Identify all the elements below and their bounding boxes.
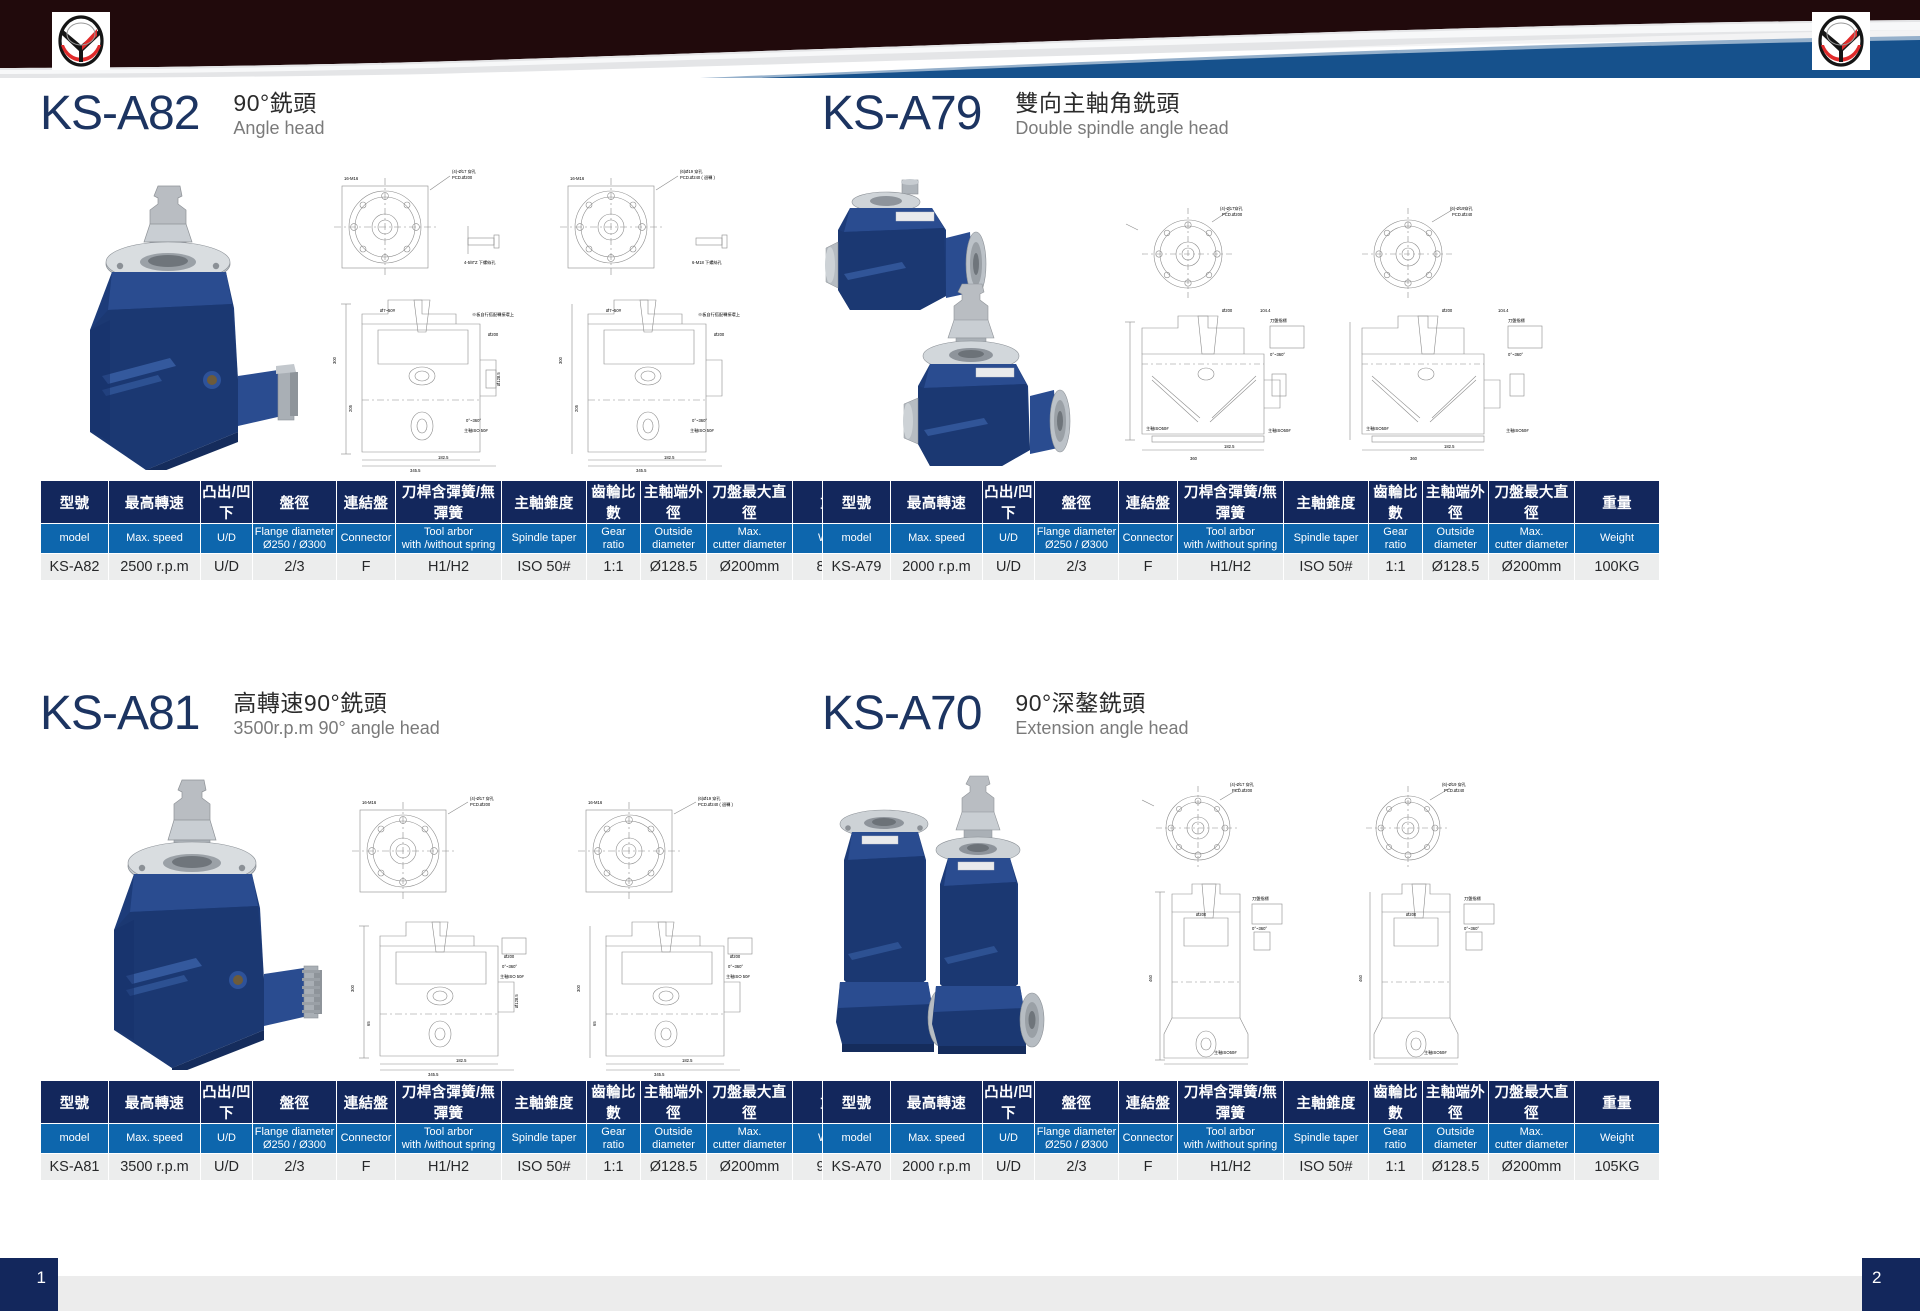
dwg-label: Ø200	[1196, 912, 1207, 917]
th-en-cutter-dia: Max.cutter diameter	[707, 1124, 793, 1154]
cell-connector: F	[1119, 554, 1178, 581]
dwg-label: 6-M18 下螺絲孔	[692, 259, 723, 266]
th-en-model: model	[823, 1124, 891, 1154]
dwg-label: PCD.Ø200	[470, 802, 491, 807]
dwg-label: Ø128.5	[496, 372, 501, 386]
dwg-label: Ø7~50#	[606, 308, 622, 313]
cell-ud: U/D	[983, 554, 1035, 581]
th-cn-max-speed: 最高轉速	[109, 1081, 201, 1124]
technical-drawings: (4)-Ø17 穿孔 PCD.Ø200 (6)-Ø19 穿孔 PCD.Ø240 …	[1098, 782, 1558, 1072]
th-cn-ud: 凸出/凹下	[201, 1081, 253, 1124]
dwg-label: 182.5	[682, 1058, 693, 1063]
technical-drawings: 16-M16 (4)-Ø17 穿孔 PCD.Ø200 16-M16 (6)Ø19…	[336, 796, 786, 1076]
product-name-cn: 雙向主軸角銑頭	[1015, 90, 1228, 117]
product-title-row: KS-A82 90°銑頭 Angle head	[40, 88, 780, 150]
th-cn-gear-ratio: 齒輪比數	[587, 481, 641, 524]
th-en-max-speed: Max. speed	[891, 524, 983, 554]
dwg-label: 345.5	[428, 1072, 439, 1076]
dwg-label: Ø200	[504, 954, 515, 959]
th-en-gear-ratio: Gearratio	[1369, 524, 1423, 554]
cell-taper: ISO 50#	[1284, 1154, 1369, 1181]
th-cn-connector: 連結盤	[1119, 1081, 1178, 1124]
dwg-label: 16-M16	[344, 176, 359, 181]
header-banner	[0, 0, 1920, 78]
th-cn-cutter-dia: 刀盤最大直徑	[707, 481, 793, 524]
dwg-label: 0°~360°	[502, 964, 517, 969]
product-figure-ks-a70: (4)-Ø17 穿孔 PCD.Ø200 (6)-Ø19 穿孔 PCD.Ø240 …	[822, 756, 1562, 1074]
th-en-gear-ratio: Gearratio	[587, 1124, 641, 1154]
cell-taper: ISO 50#	[502, 554, 587, 581]
dwg-label: ※板自行搭配轉接環上	[472, 311, 514, 318]
product-model-code: KS-A82	[40, 88, 199, 140]
th-cn-ud: 凸出/凹下	[983, 481, 1035, 524]
product-name-en: 3500r.p.m 90° angle head	[233, 717, 439, 739]
cell-cutter-dia: Ø200mm	[707, 1154, 793, 1181]
product-name-cn: 高轉速90°銑頭	[233, 690, 439, 717]
product-photo-right	[924, 772, 1054, 1062]
dwg-label: 345.5	[654, 1072, 665, 1076]
cell-ud: U/D	[201, 1154, 253, 1181]
th-cn-model: 型號	[41, 1081, 109, 1124]
dwg-label: Ø200	[488, 332, 499, 337]
th-en-max-speed: Max. speed	[891, 1124, 983, 1154]
th-en-tool-arbor: Tool arborwith /without spring	[396, 524, 502, 554]
dwg-label: PCD.Ø200	[452, 175, 473, 180]
dwg-label: 460	[1148, 974, 1153, 982]
dwg-label: (6)Ø19 穿孔	[680, 168, 703, 175]
dwg-label: 0°~360°	[1464, 926, 1479, 931]
dwg-label: 刀盤指標	[1464, 895, 1482, 902]
th-en-cutter-dia: Max.cutter diameter	[707, 524, 793, 554]
dwg-label: 360	[1410, 456, 1418, 461]
th-cn-gear-ratio: 齒輪比數	[1369, 481, 1423, 524]
th-en-ud: U/D	[983, 1124, 1035, 1154]
cell-gear-ratio: 1:1	[587, 1154, 641, 1181]
th-cn-connector: 連結盤	[1119, 481, 1178, 524]
th-cn-model: 型號	[41, 481, 109, 524]
th-cn-taper: 主軸錐度	[1284, 1081, 1369, 1124]
th-en-weight: Weight	[1575, 1124, 1660, 1154]
th-cn-max-speed: 最高轉速	[109, 481, 201, 524]
cell-outside-dia: Ø128.5	[1423, 554, 1489, 581]
dwg-label: Ø200	[1406, 912, 1417, 917]
dwg-label: PCD.Ø240 ( 迴轉 )	[680, 174, 716, 181]
dwg-label: Ø200	[730, 954, 741, 959]
dwg-label: 205	[574, 404, 579, 412]
dwg-label: (6)-Ø19穿孔	[1450, 205, 1474, 212]
dwg-label: 182.5	[456, 1058, 467, 1063]
th-en-flange: Flange diameterØ250 / Ø300	[253, 524, 337, 554]
table-header-row-cn: 型號 最高轉速 凸出/凹下 盤徑 連結盤 刀桿含彈簧/無彈簧 主軸錐度 齒輪比數…	[823, 481, 1660, 524]
dwg-label: 主軸ISO 50#	[500, 973, 524, 980]
company-y-emblem-icon	[1817, 15, 1865, 67]
dwg-label: Ø200	[1442, 308, 1453, 313]
th-en-ud: U/D	[201, 524, 253, 554]
cell-flange: 2/3	[253, 1154, 337, 1181]
dwg-label: Ø200	[714, 332, 725, 337]
dwg-label: 刀盤指標	[1270, 317, 1288, 324]
cell-gear-ratio: 1:1	[1369, 1154, 1423, 1181]
table-row: KS-A82 2500 r.p.m U/D 2/3 F H1/H2 ISO 50…	[41, 554, 878, 581]
company-y-emblem-icon	[57, 15, 105, 67]
cell-tool-arbor: H1/H2	[1178, 554, 1284, 581]
dwg-label: PCD.Ø200	[1232, 788, 1253, 793]
th-en-connector: Connector	[1119, 524, 1178, 554]
dwg-label: 300	[332, 356, 337, 364]
dwg-label: 16-M16	[588, 800, 603, 805]
cell-model: KS-A81	[41, 1154, 109, 1181]
dwg-label: 主軸ISO50#	[1268, 427, 1291, 434]
cell-ud: U/D	[983, 1154, 1035, 1181]
th-en-tool-arbor: Tool arborwith /without spring	[1178, 524, 1284, 554]
th-cn-cutter-dia: 刀盤最大直徑	[707, 1081, 793, 1124]
footer-bar	[0, 1276, 1920, 1311]
dwg-label: 0°~360°	[1252, 926, 1267, 931]
page-number-right: 2	[1862, 1258, 1920, 1311]
product-block-ks-a81: KS-A81 高轉速90°銑頭 3500r.p.m 90° angle head	[40, 688, 780, 1181]
table-row: KS-A79 2000 r.p.m U/D 2/3 F H1/H2 ISO 50…	[823, 554, 1660, 581]
dwg-label: 主軸ISO50#	[1366, 425, 1389, 432]
dwg-label: (4)-Ø17 穿孔	[452, 168, 477, 175]
th-en-taper: Spindle taper	[1284, 524, 1369, 554]
cell-max-speed: 2500 r.p.m	[109, 554, 201, 581]
cell-model: KS-A82	[41, 554, 109, 581]
table-header-row-cn: 型號 最高轉速 凸出/凹下 盤徑 連結盤 刀桿含彈簧/無彈簧 主軸錐度 齒輪比數…	[823, 1081, 1660, 1124]
th-en-gear-ratio: Gearratio	[587, 524, 641, 554]
dwg-label: 主軸ISO 50#	[464, 427, 488, 434]
cell-outside-dia: Ø128.5	[641, 554, 707, 581]
dwg-label: 182.5	[1224, 444, 1235, 449]
dwg-label: 300	[576, 984, 581, 992]
cell-taper: ISO 50#	[1284, 554, 1369, 581]
th-cn-taper: 主軸錐度	[1284, 481, 1369, 524]
th-en-taper: Spindle taper	[502, 524, 587, 554]
dwg-label: 主軸ISO 50#	[690, 427, 714, 434]
product-name-cn: 90°深鏊銑頭	[1015, 690, 1188, 717]
th-cn-ud: 凸出/凹下	[201, 481, 253, 524]
th-en-cutter-dia: Max.cutter diameter	[1489, 1124, 1575, 1154]
th-en-connector: Connector	[337, 524, 396, 554]
product-model-code: KS-A70	[822, 688, 981, 740]
dwg-label: (4)-Ø17穿孔	[1220, 205, 1244, 212]
th-en-max-speed: Max. speed	[109, 1124, 201, 1154]
table-row: KS-A70 2000 r.p.m U/D 2/3 F H1/H2 ISO 50…	[823, 1154, 1660, 1181]
th-en-taper: Spindle taper	[1284, 1124, 1369, 1154]
dwg-label: Ø7~50#	[380, 308, 396, 313]
th-cn-outside-dia: 主軸端外徑	[641, 481, 707, 524]
technical-drawings: (4)-Ø17穿孔 PCD.Ø200 (6)-Ø19穿孔 PCD.Ø240 36…	[1112, 204, 1562, 474]
dwg-label: 345.5	[410, 468, 421, 473]
dwg-label: 360	[1190, 456, 1198, 461]
dwg-label: 65	[592, 1021, 597, 1026]
th-cn-flange: 盤徑	[1035, 1081, 1119, 1124]
th-cn-flange: 盤徑	[253, 1081, 337, 1124]
dwg-label: 0°~360°	[1270, 352, 1285, 357]
product-photo	[50, 180, 300, 470]
dwg-label: 300	[558, 356, 563, 364]
product-title-row: KS-A81 高轉速90°銑頭 3500r.p.m 90° angle head	[40, 688, 780, 750]
th-cn-max-speed: 最高轉速	[891, 1081, 983, 1124]
cell-model: KS-A70	[823, 1154, 891, 1181]
cell-weight: 105KG	[1575, 1154, 1660, 1181]
cell-outside-dia: Ø128.5	[1423, 1154, 1489, 1181]
table-header-row-en: model Max. speed U/D Flange diameterØ250…	[823, 1124, 1660, 1154]
dwg-label: 0°~360°	[692, 418, 707, 423]
dwg-label: 4-5/8"Z 下螺絲孔	[464, 259, 496, 266]
dwg-label: 104.4	[1260, 308, 1271, 313]
product-title-row: KS-A79 雙向主軸角銑頭 Double spindle angle head	[822, 88, 1562, 150]
dwg-label: 主軸ISO50#	[1506, 427, 1529, 434]
dwg-label: 182.5	[664, 455, 675, 460]
product-block-ks-a70: KS-A70 90°深鏊銑頭 Extension angle head	[822, 688, 1562, 1181]
th-en-max-speed: Max. speed	[109, 524, 201, 554]
table-header-row-en: model Max. speed U/D Flange diameterØ250…	[823, 524, 1660, 554]
th-cn-connector: 連結盤	[337, 481, 396, 524]
dwg-label: 16-M16	[570, 176, 585, 181]
th-en-ud: U/D	[201, 1124, 253, 1154]
product-title-row: KS-A70 90°深鏊銑頭 Extension angle head	[822, 688, 1562, 750]
cell-max-speed: 2000 r.p.m	[891, 554, 983, 581]
dwg-label: 刀盤指標	[1252, 895, 1270, 902]
product-figure-ks-a79: (4)-Ø17穿孔 PCD.Ø200 (6)-Ø19穿孔 PCD.Ø240 36…	[822, 156, 1562, 474]
cell-model: KS-A79	[823, 554, 891, 581]
dwg-label: 345.5	[636, 468, 647, 473]
cell-cutter-dia: Ø200mm	[1489, 554, 1575, 581]
product-model-code: KS-A81	[40, 688, 199, 740]
th-cn-tool-arbor: 刀桿含彈簧/無彈簧	[1178, 1081, 1284, 1124]
th-en-flange: Flange diameterØ250 / Ø300	[253, 1124, 337, 1154]
cell-connector: F	[1119, 1154, 1178, 1181]
th-cn-connector: 連結盤	[337, 1081, 396, 1124]
th-en-outside-dia: Outsidediameter	[1423, 524, 1489, 554]
th-en-gear-ratio: Gearratio	[1369, 1124, 1423, 1154]
dwg-label: 205	[348, 404, 353, 412]
th-en-flange: Flange diameterØ250 / Ø300	[1035, 524, 1119, 554]
table-header-row-en: model Max. speed U/D Flange diameterØ250…	[41, 1124, 878, 1154]
th-en-outside-dia: Outsidediameter	[641, 1124, 707, 1154]
th-cn-outside-dia: 主軸端外徑	[1423, 481, 1489, 524]
cell-tool-arbor: H1/H2	[396, 1154, 502, 1181]
cell-max-speed: 3500 r.p.m	[109, 1154, 201, 1181]
cell-flange: 2/3	[1035, 1154, 1119, 1181]
cell-tool-arbor: H1/H2	[396, 554, 502, 581]
th-en-model: model	[823, 524, 891, 554]
page-number-left: 1	[0, 1258, 58, 1311]
cell-weight: 100KG	[1575, 554, 1660, 581]
th-cn-tool-arbor: 刀桿含彈簧/無彈簧	[396, 1081, 502, 1124]
th-en-model: model	[41, 524, 109, 554]
th-cn-ud: 凸出/凹下	[983, 1081, 1035, 1124]
dwg-label: Ø128.5	[514, 994, 519, 1008]
th-cn-taper: 主軸錐度	[502, 1081, 587, 1124]
product-photo-lower	[900, 280, 1100, 476]
cell-gear-ratio: 1:1	[587, 554, 641, 581]
product-figure-ks-a82: 16-M16 (4)-Ø17 穿孔 PCD.Ø200 16-M16 (6)Ø19…	[40, 156, 780, 474]
th-en-tool-arbor: Tool arborwith /without spring	[1178, 1124, 1284, 1154]
dwg-label: 182.5	[1444, 444, 1455, 449]
cell-flange: 2/3	[253, 554, 337, 581]
dwg-label: 主軸ISO50#	[1214, 1049, 1237, 1056]
spec-table-ks-a70: 型號 最高轉速 凸出/凹下 盤徑 連結盤 刀桿含彈簧/無彈簧 主軸錐度 齒輪比數…	[822, 1080, 1660, 1181]
dwg-label: ※板自行搭配轉接環上	[698, 311, 740, 318]
th-cn-gear-ratio: 齒輪比數	[1369, 1081, 1423, 1124]
th-en-outside-dia: Outsidediameter	[641, 524, 707, 554]
cell-max-speed: 2000 r.p.m	[891, 1154, 983, 1181]
dwg-label: PCD.Ø240	[1444, 788, 1465, 793]
product-photo	[74, 770, 324, 1070]
dwg-label: 104.4	[1498, 308, 1509, 313]
technical-drawings: 16-M16 (4)-Ø17 穿孔 PCD.Ø200 16-M16 (6)Ø19…	[318, 164, 778, 474]
dwg-label: 182.5	[438, 455, 449, 460]
th-cn-gear-ratio: 齒輪比數	[587, 1081, 641, 1124]
th-cn-cutter-dia: 刀盤最大直徑	[1489, 481, 1575, 524]
cell-cutter-dia: Ø200mm	[707, 554, 793, 581]
product-name-en: Double spindle angle head	[1015, 117, 1228, 139]
th-en-taper: Spindle taper	[502, 1124, 587, 1154]
spec-table-ks-a79: 型號 最高轉速 凸出/凹下 盤徑 連結盤 刀桿含彈簧/無彈簧 主軸錐度 齒輪比數…	[822, 480, 1660, 581]
th-en-connector: Connector	[1119, 1124, 1178, 1154]
th-en-ud: U/D	[983, 524, 1035, 554]
cell-ud: U/D	[201, 554, 253, 581]
th-en-tool-arbor: Tool arborwith /without spring	[396, 1124, 502, 1154]
dwg-label: 0°~360°	[728, 964, 743, 969]
table-header-row-cn: 型號 最高轉速 凸出/凹下 盤徑 連結盤 刀桿含彈簧/無彈簧 主軸錐度 齒輪比數…	[41, 481, 878, 524]
cell-tool-arbor: H1/H2	[1178, 1154, 1284, 1181]
dwg-label: 主軸ISO 50#	[726, 973, 750, 980]
th-cn-model: 型號	[823, 1081, 891, 1124]
cell-outside-dia: Ø128.5	[641, 1154, 707, 1181]
th-cn-flange: 盤徑	[1035, 481, 1119, 524]
dwg-label: 300	[350, 984, 355, 992]
cell-gear-ratio: 1:1	[1369, 554, 1423, 581]
dwg-label: Ø200	[1222, 308, 1233, 313]
th-cn-outside-dia: 主軸端外徑	[641, 1081, 707, 1124]
cell-flange: 2/3	[1035, 554, 1119, 581]
dwg-label: 460	[1358, 974, 1363, 982]
product-block-ks-a79: KS-A79 雙向主軸角銑頭 Double spindle angle head	[822, 88, 1562, 581]
th-cn-tool-arbor: 刀桿含彈簧/無彈簧	[396, 481, 502, 524]
dwg-label: 0°~360°	[1508, 352, 1523, 357]
th-en-outside-dia: Outsidediameter	[1423, 1124, 1489, 1154]
brand-logo-right	[1812, 12, 1870, 70]
spec-table-ks-a81: 型號 最高轉速 凸出/凹下 盤徑 連結盤 刀桿含彈簧/無彈簧 主軸錐度 齒輪比數…	[40, 1080, 878, 1181]
dwg-label: 主軸ISO50#	[1146, 425, 1169, 432]
th-cn-weight: 重量	[1575, 481, 1660, 524]
dwg-label: 65	[366, 1021, 371, 1026]
th-en-model: model	[41, 1124, 109, 1154]
th-en-weight: Weight	[1575, 524, 1660, 554]
dwg-label: 主軸ISO50#	[1424, 1049, 1447, 1056]
cell-cutter-dia: Ø200mm	[1489, 1154, 1575, 1181]
dwg-label: PCD.Ø240	[1452, 212, 1473, 217]
product-name-cn: 90°銑頭	[233, 90, 324, 117]
th-cn-model: 型號	[823, 481, 891, 524]
dwg-label: 0°~360°	[466, 418, 481, 423]
product-model-code: KS-A79	[822, 88, 981, 140]
th-cn-tool-arbor: 刀桿含彈簧/無彈簧	[1178, 481, 1284, 524]
product-name-en: Angle head	[233, 117, 324, 139]
dwg-label: 16-M16	[362, 800, 377, 805]
th-cn-max-speed: 最高轉速	[891, 481, 983, 524]
product-block-ks-a82: KS-A82 90°銑頭 Angle head	[40, 88, 780, 581]
product-name-en: Extension angle head	[1015, 717, 1188, 739]
spec-table-ks-a82: 型號 最高轉速 凸出/凹下 盤徑 連結盤 刀桿含彈簧/無彈簧 主軸錐度 齒輪比數…	[40, 480, 878, 581]
dwg-label: PCD.Ø240 ( 迴轉 )	[698, 801, 734, 808]
cell-taper: ISO 50#	[502, 1154, 587, 1181]
dwg-label: 刀盤指標	[1508, 317, 1526, 324]
table-header-row-en: model Max. speed U/D Flange diameterØ250…	[41, 524, 878, 554]
th-en-connector: Connector	[337, 1124, 396, 1154]
table-header-row-cn: 型號 最高轉速 凸出/凹下 盤徑 連結盤 刀桿含彈簧/無彈簧 主軸錐度 齒輪比數…	[41, 1081, 878, 1124]
th-cn-flange: 盤徑	[253, 481, 337, 524]
brand-logo-left	[52, 12, 110, 70]
catalog-page: KS-A82 90°銑頭 Angle head	[0, 0, 1920, 1311]
th-en-flange: Flange diameterØ250 / Ø300	[1035, 1124, 1119, 1154]
th-cn-outside-dia: 主軸端外徑	[1423, 1081, 1489, 1124]
th-en-cutter-dia: Max.cutter diameter	[1489, 524, 1575, 554]
dwg-label: PCD.Ø200	[1222, 212, 1243, 217]
product-figure-ks-a81: 16-M16 (4)-Ø17 穿孔 PCD.Ø200 16-M16 (6)Ø19…	[40, 756, 780, 1074]
cell-connector: F	[337, 554, 396, 581]
table-row: KS-A81 3500 r.p.m U/D 2/3 F H1/H2 ISO 50…	[41, 1154, 878, 1181]
th-cn-weight: 重量	[1575, 1081, 1660, 1124]
th-cn-taper: 主軸錐度	[502, 481, 587, 524]
cell-connector: F	[337, 1154, 396, 1181]
th-cn-cutter-dia: 刀盤最大直徑	[1489, 1081, 1575, 1124]
